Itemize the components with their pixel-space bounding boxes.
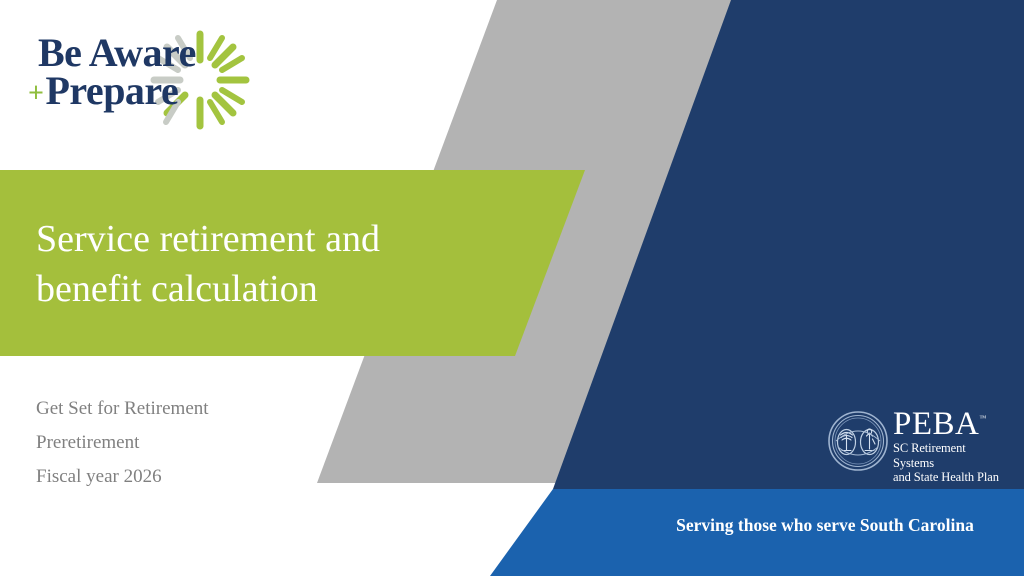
title-line-1: Service retirement and — [36, 214, 506, 264]
peba-subtitle-line-1: SC Retirement Systems — [893, 441, 1008, 470]
be-aware-prepare-logo: Be Aware +Prepare — [24, 18, 254, 136]
peba-logo: PEBA™ SC Retirement Systems and State He… — [828, 408, 1008, 478]
peba-subtitle-line-2: and State Health Plan — [893, 470, 1008, 485]
peba-subtitle: SC Retirement Systems and State Health P… — [893, 441, 1008, 485]
peba-name: PEBA™ — [893, 409, 986, 440]
subtitle-block: Get Set for Retirement Preretirement Fis… — [36, 392, 209, 493]
logo-line-2: +Prepare — [28, 72, 208, 110]
logo-line-2-word: Prepare — [45, 68, 178, 113]
logo-plus-sign: + — [28, 78, 45, 109]
peba-wordmark: PEBA™ SC Retirement Systems and State He… — [893, 408, 1008, 485]
subtitle-line-3: Fiscal year 2026 — [36, 460, 209, 494]
page-title: Service retirement and benefit calculati… — [36, 214, 506, 314]
title-line-2: benefit calculation — [36, 264, 506, 314]
subtitle-line-1: Get Set for Retirement — [36, 392, 209, 426]
tagline: Serving those who serve South Carolina — [640, 515, 1010, 536]
presentation-slide: Be Aware +Prepare Service retirement and… — [0, 0, 1024, 576]
peba-name-text: PEBA — [893, 406, 979, 442]
logo-line-1: Be Aware — [28, 34, 208, 72]
subtitle-line-2: Preretirement — [36, 426, 209, 460]
trademark-icon: ™ — [979, 414, 986, 422]
sc-state-seal-icon — [828, 411, 888, 471]
be-aware-prepare-wordmark: Be Aware +Prepare — [28, 34, 208, 111]
